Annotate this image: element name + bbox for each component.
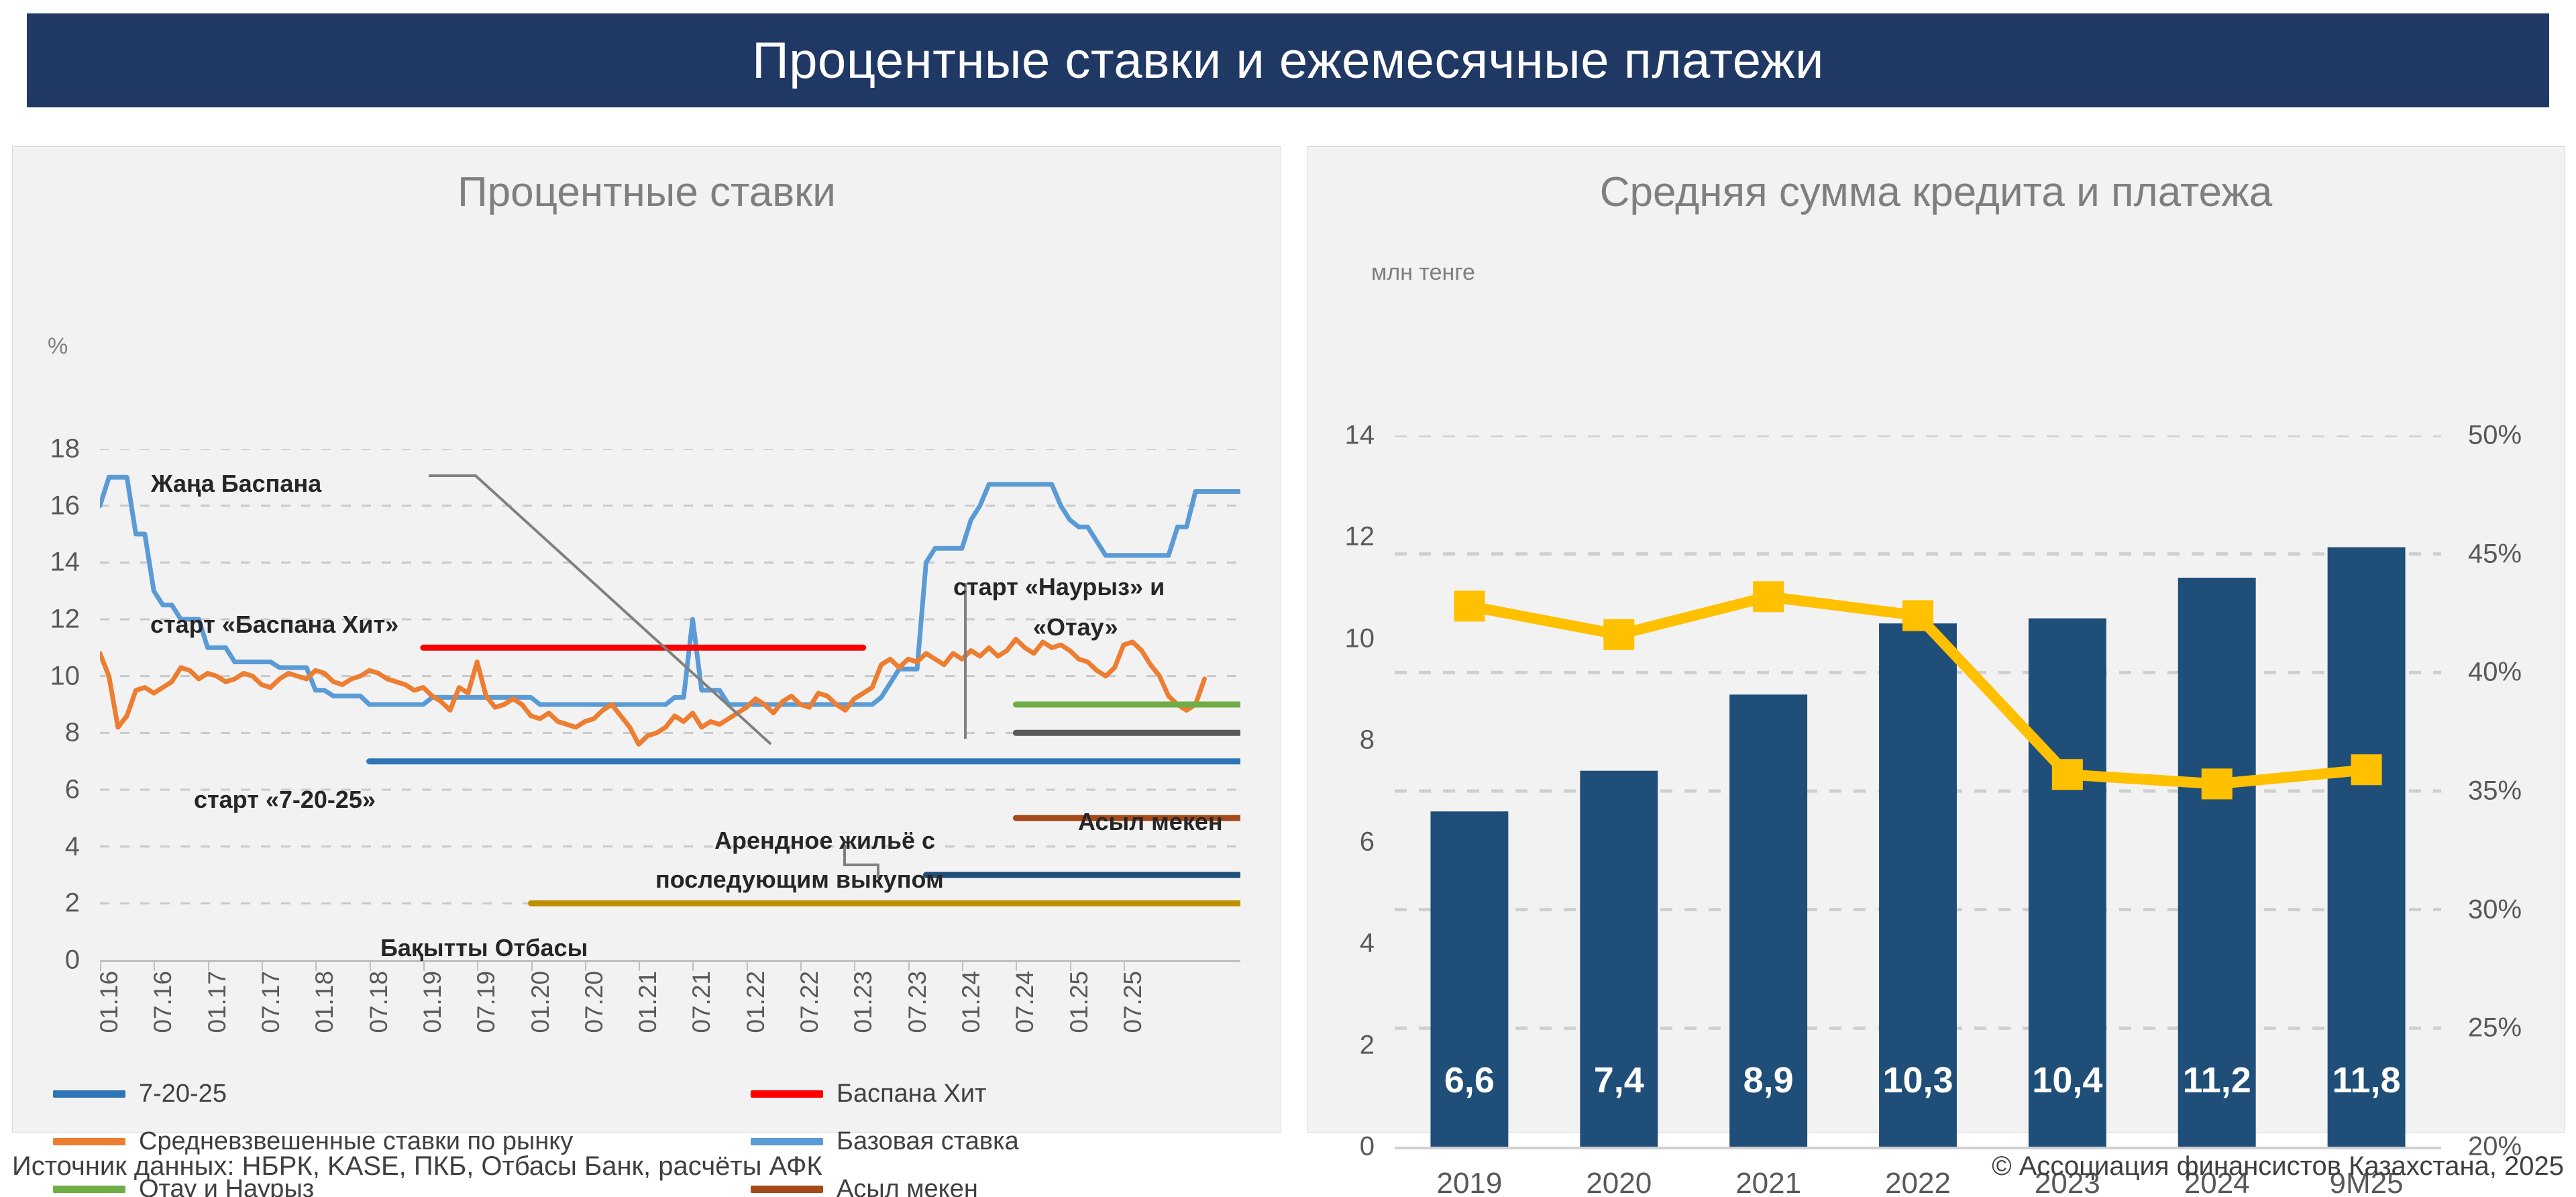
legend-label: Асыл мекен [837, 1175, 978, 1197]
annotation-start-otau-line2: «Отау» [1033, 611, 1118, 644]
left-y-tick: 10 [19, 661, 80, 691]
left-x-tick: 01.19 [419, 971, 447, 1033]
right-chart-svg [1395, 435, 2441, 1147]
left-x-tickmark [1070, 960, 1071, 971]
right-plot-area [1395, 435, 2441, 1147]
bar-label-2023: 10,4 [2032, 1059, 2102, 1101]
left-x-tick: 07.18 [365, 971, 393, 1033]
left-x-tickmark [639, 960, 640, 971]
annotation-start-7-20-25: старт «7-20-25» [194, 784, 376, 817]
slide-header: Процентные ставки и ежемесячные платежи [27, 13, 2549, 107]
legend-swatch-icon [751, 1090, 823, 1098]
annotation-zhana-baspana: Жаңа Баспана [151, 468, 321, 501]
payment-ratio-marker[interactable] [1902, 601, 1933, 631]
payment-ratio-marker[interactable] [1603, 619, 1634, 650]
legend-item-5[interactable]: Асыл мекен [751, 1175, 1260, 1197]
legend-swatch-icon [751, 1138, 823, 1145]
right-x-tick-2020: 2020 [1586, 1167, 1652, 1197]
avg-loan-panel: Средняя сумма кредита и платежа млн тенг… [1307, 146, 2565, 1133]
left-x-tickmark [370, 960, 371, 971]
payment-ratio-marker[interactable] [2202, 768, 2233, 799]
left-x-tickmark [800, 960, 802, 971]
right-x-tick-2022: 2022 [1885, 1167, 1951, 1197]
left-x-tick: 01.21 [634, 971, 662, 1033]
right-left-y-tick: 10 [1314, 623, 1375, 654]
payment-ratio-marker[interactable] [1454, 590, 1485, 621]
right-chart-title: Средняя сумма кредита и платежа [1307, 168, 2565, 216]
left-x-tickmark [315, 960, 317, 971]
legend-item-0[interactable]: 7-20-25 [53, 1080, 751, 1108]
copyright-note: © Ассоциация финансистов Казахстана, 202… [1992, 1151, 2564, 1182]
left-x-tick: 07.20 [580, 971, 608, 1033]
annotation-bakytty-otbasy: Бақытты Отбасы [380, 932, 588, 965]
legend-swatch-icon [751, 1186, 823, 1193]
slide-root: Процентные ставки и ежемесячные платежи … [0, 0, 2576, 1197]
left-x-tick: 01.24 [957, 971, 985, 1033]
left-x-tickmark [692, 960, 694, 971]
right-right-y-tick: 25% [2468, 1013, 2522, 1043]
bar-label-2020: 7,4 [1594, 1059, 1644, 1101]
left-x-tick: 01.25 [1065, 971, 1093, 1033]
annotation-arendnoe-line1: Арендное жильё с [714, 825, 935, 857]
legend-swatch-icon [53, 1186, 125, 1193]
bar-label-2019: 6,6 [1444, 1059, 1495, 1101]
left-x-tick: 07.23 [904, 971, 932, 1033]
right-x-tick-2021: 2021 [1735, 1167, 1801, 1197]
legend-label: 7-20-25 [139, 1080, 227, 1108]
bar-label-2021: 8,9 [1743, 1059, 1794, 1101]
left-x-tickmark [262, 960, 263, 971]
legend-label: Баспана Хит [837, 1080, 986, 1108]
payment-ratio-marker[interactable] [2351, 754, 2382, 785]
left-chart-title: Процентные ставки [13, 168, 1281, 216]
legend-label: Базовая ставка [837, 1127, 1019, 1156]
right-right-y-tick: 50% [2468, 421, 2522, 451]
right-x-tick-2019: 2019 [1436, 1167, 1502, 1197]
bar-label-9М25: 11,8 [2332, 1059, 2401, 1101]
left-y-tick: 14 [19, 548, 80, 578]
left-y-axis-unit: % [48, 333, 68, 360]
annotation-start-nauryz-line1: старт «Наурыз» и [953, 571, 1165, 604]
annotation-arendnoe-line2: последующим выкупом [655, 864, 944, 896]
legend-item-1[interactable]: Баспана Хит [751, 1080, 1260, 1108]
annotation-asyl-meken: Асыл мекен [1078, 806, 1223, 839]
left-x-tick: 07.17 [257, 971, 285, 1033]
page-title: Процентные ставки и ежемесячные платежи [752, 32, 1824, 90]
left-x-tickmark [962, 960, 963, 971]
right-right-y-tick: 40% [2468, 658, 2522, 688]
right-left-y-tick: 6 [1314, 827, 1375, 857]
left-x-tickmark [854, 960, 855, 971]
bar-label-2022: 10,3 [1882, 1059, 1953, 1101]
left-x-tickmark [908, 960, 910, 971]
right-left-y-tick: 0 [1314, 1132, 1375, 1162]
left-x-tick: 01.18 [311, 971, 339, 1033]
legend-swatch-icon [53, 1138, 125, 1145]
right-x-axis-line [1395, 1147, 2441, 1149]
left-y-tick: 18 [19, 434, 80, 464]
left-x-tick: 07.21 [688, 971, 716, 1033]
bar-label-2024: 11,2 [2183, 1059, 2251, 1101]
right-y-axis-unit: млн тенге [1371, 260, 1475, 286]
right-left-y-tick: 12 [1314, 522, 1375, 552]
left-y-tick: 4 [19, 831, 80, 862]
left-y-tick: 8 [19, 718, 80, 748]
payment-ratio-marker[interactable] [2052, 759, 2083, 790]
data-source-note: Источник данных: НБРК, KASE, ПКБ, Отбасы… [12, 1151, 822, 1182]
right-left-y-tick: 14 [1314, 421, 1375, 451]
left-y-tick: 16 [19, 490, 80, 521]
left-x-tickmark [208, 960, 209, 971]
right-left-y-tick: 8 [1314, 725, 1375, 756]
right-right-y-tick: 30% [2468, 894, 2522, 925]
legend-swatch-icon [53, 1090, 125, 1098]
bar-9М25[interactable] [2328, 548, 2406, 1147]
left-x-tick: 01.17 [203, 971, 231, 1033]
left-x-tick: 07.22 [796, 971, 824, 1033]
left-x-tickmark [1016, 960, 1017, 971]
left-y-tick: 0 [19, 945, 80, 976]
annotation-start-baspana-hit: старт «Баспана Хит» [150, 609, 398, 641]
left-x-tickmark [154, 960, 155, 971]
left-x-tick: 01.22 [742, 971, 770, 1033]
left-x-tickmark [100, 960, 101, 971]
right-right-y-tick: 45% [2468, 539, 2522, 569]
right-left-y-tick: 2 [1314, 1030, 1375, 1060]
left-series-group [100, 477, 1240, 903]
payment-ratio-marker[interactable] [1753, 581, 1784, 612]
left-x-tick: 01.23 [849, 971, 877, 1033]
left-x-tick: 01.20 [527, 971, 555, 1033]
left-y-tick: 6 [19, 775, 80, 805]
legend-item-3[interactable]: Базовая ставка [751, 1127, 1260, 1156]
right-right-y-tick: 35% [2468, 776, 2522, 806]
series-line-Средневзвешенные ставки по рынку [100, 639, 1205, 745]
bars-group [1430, 548, 2405, 1147]
left-x-tick: 07.25 [1119, 971, 1147, 1033]
left-x-tick: 07.19 [472, 971, 500, 1033]
left-x-tick: 01.16 [95, 971, 123, 1033]
right-left-y-tick: 4 [1314, 929, 1375, 959]
left-y-tick: 12 [19, 605, 80, 635]
left-x-tickmark [1124, 960, 1125, 971]
interest-rates-panel: Процентные ставки % 024681012141618 01.1… [12, 146, 1281, 1133]
left-x-tick: 07.24 [1011, 971, 1039, 1033]
left-x-tick: 07.16 [149, 971, 177, 1033]
left-y-tick: 2 [19, 888, 80, 919]
left-x-tickmark [747, 960, 748, 971]
